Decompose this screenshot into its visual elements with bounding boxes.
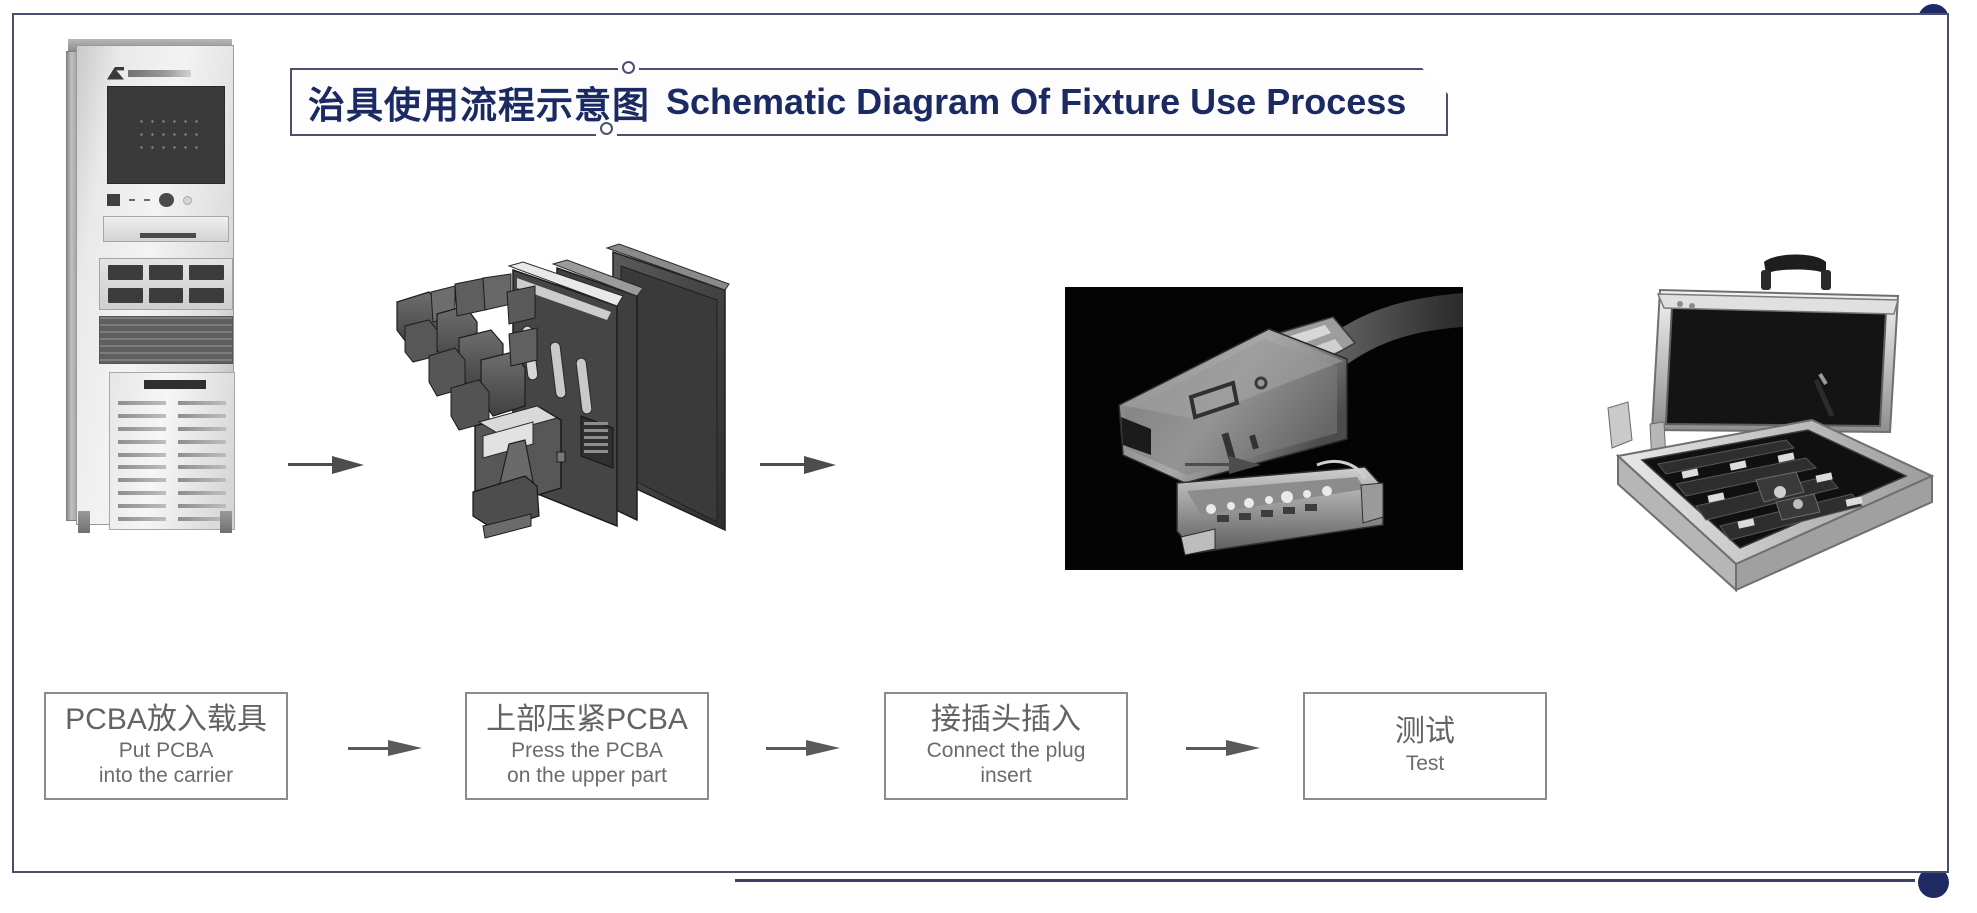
slide-canvas: 治具使用流程示意图 Schematic Diagram Of Fixture U… xyxy=(0,0,1977,913)
page-title-cn: 治具使用流程示意图 xyxy=(308,75,650,129)
step-3-label-en-line1: Connect the plug xyxy=(927,739,1086,763)
arrow-head-icon xyxy=(1229,456,1261,474)
rack-knob-icon xyxy=(159,193,174,207)
banner-bottom-circle-icon xyxy=(600,122,613,135)
step-2-label-en-line2: on the upper part xyxy=(507,764,667,788)
rack-foot-right xyxy=(220,511,232,533)
process-caption-row: PCBA放入载具 Put PCBA into the carrier 上部压紧P… xyxy=(0,692,1977,832)
rack-drawer xyxy=(103,216,229,242)
rack-rail xyxy=(178,453,226,457)
rack-rail xyxy=(118,478,166,482)
title-banner: 治具使用流程示意图 Schematic Diagram Of Fixture U… xyxy=(290,68,1448,136)
rack-control-strip xyxy=(107,192,227,208)
banner-top-circle-icon xyxy=(622,61,635,74)
step-box-1: PCBA放入载具 Put PCBA into the carrier xyxy=(44,692,288,800)
cad-base-connector-housing xyxy=(473,406,565,538)
rack-slot xyxy=(189,288,224,303)
rack-rail xyxy=(178,504,226,508)
rack-rail xyxy=(118,465,166,469)
step-2-label-en-line1: Press the PCBA xyxy=(511,739,663,763)
rack-rail xyxy=(178,414,226,418)
rack-tick-icon xyxy=(144,199,150,201)
rack-rail xyxy=(178,491,226,495)
rack-rail xyxy=(118,401,166,405)
rack-rail xyxy=(178,517,226,521)
rack-module-slots xyxy=(99,258,233,310)
rack-magazine-rails xyxy=(118,399,226,523)
test-rack-cabinet-image xyxy=(62,35,248,535)
caption-flow-arrow-3 xyxy=(1186,738,1264,760)
image-flow-arrow-1 xyxy=(288,452,368,478)
rack-vent-grille xyxy=(99,316,233,364)
rack-rail xyxy=(118,453,166,457)
rack-rail xyxy=(118,517,166,521)
step-2-label-cn: 上部压紧PCBA xyxy=(486,704,688,736)
image-flow-arrow-3 xyxy=(1185,452,1265,478)
step-1-label-en-line1: Put PCBA xyxy=(119,739,214,763)
caption-flow-arrow-2 xyxy=(766,738,844,760)
rack-rail xyxy=(178,440,226,444)
rack-slot xyxy=(108,265,143,280)
rack-magazine-handle-icon xyxy=(144,380,206,389)
rack-button-square-icon xyxy=(107,194,120,206)
rack-lower-magazine xyxy=(109,372,235,530)
arrow-head-icon xyxy=(804,456,836,474)
rack-foot-left xyxy=(78,511,90,533)
rack-rail xyxy=(118,504,166,508)
arrow-head-icon xyxy=(332,456,364,474)
plug-photo-svg xyxy=(1065,287,1463,570)
rack-screen-dotgrid-icon xyxy=(136,115,198,157)
cad-press-pin-bank xyxy=(397,274,537,430)
arrow-head-icon xyxy=(806,740,840,756)
step-3-label-en-line2: insert xyxy=(980,764,1031,788)
rack-display-screen xyxy=(107,86,225,184)
rack-rail xyxy=(178,478,226,482)
step-1-label-en-line2: into the carrier xyxy=(99,764,233,788)
rack-slot xyxy=(189,265,224,280)
arrow-head-icon xyxy=(388,740,422,756)
step-box-4: 测试 Test xyxy=(1303,692,1547,800)
arrow-head-icon xyxy=(1226,740,1260,756)
cad-fixture-assembly-image xyxy=(385,230,745,570)
step-3-label-cn: 接插头插入 xyxy=(931,704,1081,736)
rack-slot xyxy=(149,265,184,280)
rack-rail xyxy=(118,491,166,495)
step-4-label-cn: 测试 xyxy=(1395,716,1455,748)
fixture-case-svg xyxy=(1580,248,1940,608)
rack-slot xyxy=(108,288,143,303)
rack-slot xyxy=(149,288,184,303)
rack-logo-mark-icon xyxy=(107,67,124,80)
rack-front-panel xyxy=(76,45,234,525)
fixture-case-photo-image xyxy=(1580,248,1940,608)
step-1-label-cn: PCBA放入载具 xyxy=(65,704,267,736)
rack-led-icon xyxy=(183,196,192,205)
rack-rail xyxy=(118,414,166,418)
rack-rail xyxy=(178,465,226,469)
rack-brand-logo-icon xyxy=(107,66,191,80)
rack-rail xyxy=(178,401,226,405)
rack-rail xyxy=(178,427,226,431)
cad-fixture-svg xyxy=(385,230,745,570)
caption-flow-arrow-1 xyxy=(348,738,426,760)
rack-rail xyxy=(118,427,166,431)
step-box-3: 接插头插入 Connect the plug insert xyxy=(884,692,1128,800)
image-flow-arrow-2 xyxy=(760,452,840,478)
step-box-2: 上部压紧PCBA Press the PCBA on the upper par… xyxy=(465,692,709,800)
rack-rail xyxy=(118,440,166,444)
step-4-label-en-line1: Test xyxy=(1406,752,1445,776)
page-title-en: Schematic Diagram Of Fixture Use Process xyxy=(666,81,1406,123)
rack-logo-wordmark xyxy=(128,70,191,77)
connector-plug-photo-image xyxy=(1065,287,1463,570)
rack-tick-icon xyxy=(129,199,135,201)
